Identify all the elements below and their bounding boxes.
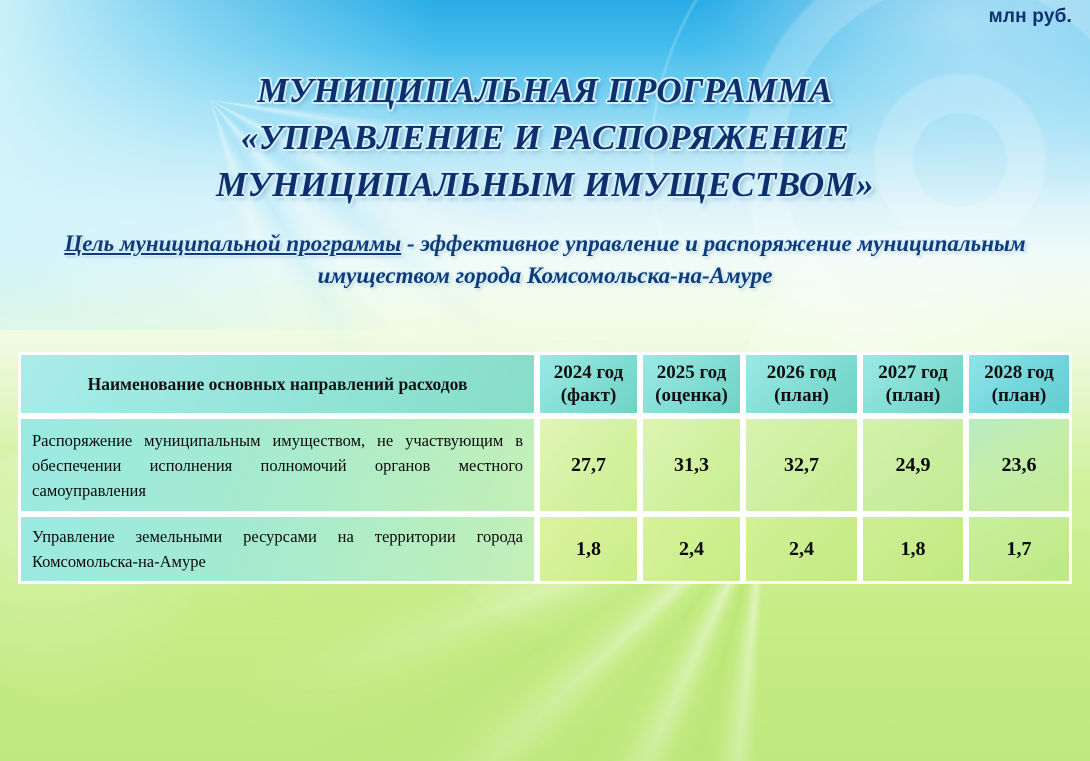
cell-row2-2024: 1,8 — [537, 514, 640, 584]
cell-row2-2028: 1,7 — [966, 514, 1072, 584]
column-header-2027: 2027 год (план) — [860, 352, 966, 416]
table-header-row: Наименование основных направлений расход… — [18, 352, 1072, 416]
cell-row2-2026: 2,4 — [743, 514, 860, 584]
cell-row1-2027: 24,9 — [860, 416, 966, 514]
cell-row2-2027: 1,8 — [860, 514, 966, 584]
row-label-disposal-of-municipal-property: Распоряжение муниципальным имуществом, н… — [18, 416, 537, 514]
table-row: Управление земельными ресурсами на терри… — [18, 514, 1072, 584]
slide-canvas: млн руб. МУНИЦИПАЛЬНАЯ ПРОГРАММА «УПРАВЛ… — [0, 0, 1090, 761]
column-header-2025: 2025 год (оценка) — [640, 352, 743, 416]
expenditure-table: Наименование основных направлений расход… — [18, 352, 1072, 584]
cell-row2-2025: 2,4 — [640, 514, 743, 584]
cell-row1-2028: 23,6 — [966, 416, 1072, 514]
table-body: Распоряжение муниципальным имуществом, н… — [18, 416, 1072, 584]
cell-row1-2026: 32,7 — [743, 416, 860, 514]
table-header: Наименование основных направлений расход… — [18, 352, 1072, 416]
program-goal-label: Цель муниципальной программы — [64, 231, 401, 256]
cell-row1-2024: 27,7 — [537, 416, 640, 514]
column-header-2024: 2024 год (факт) — [537, 352, 640, 416]
table-row: Распоряжение муниципальным имуществом, н… — [18, 416, 1072, 514]
program-goal: Цель муниципальной программы - эффективн… — [22, 228, 1068, 292]
page-title: МУНИЦИПАЛЬНАЯ ПРОГРАММА «УПРАВЛЕНИЕ И РА… — [0, 67, 1090, 208]
expenditure-table-wrapper: Наименование основных направлений расход… — [18, 352, 1072, 584]
cell-row1-2025: 31,3 — [640, 416, 743, 514]
units-label: млн руб. — [989, 6, 1072, 28]
column-header-2026: 2026 год (план) — [743, 352, 860, 416]
column-header-name: Наименование основных направлений расход… — [18, 352, 537, 416]
program-goal-text: - эффективное управление и распоряжение … — [318, 231, 1026, 288]
column-header-2028: 2028 год (план) — [966, 352, 1072, 416]
row-label-land-resources-management: Управление земельными ресурсами на терри… — [18, 514, 537, 584]
